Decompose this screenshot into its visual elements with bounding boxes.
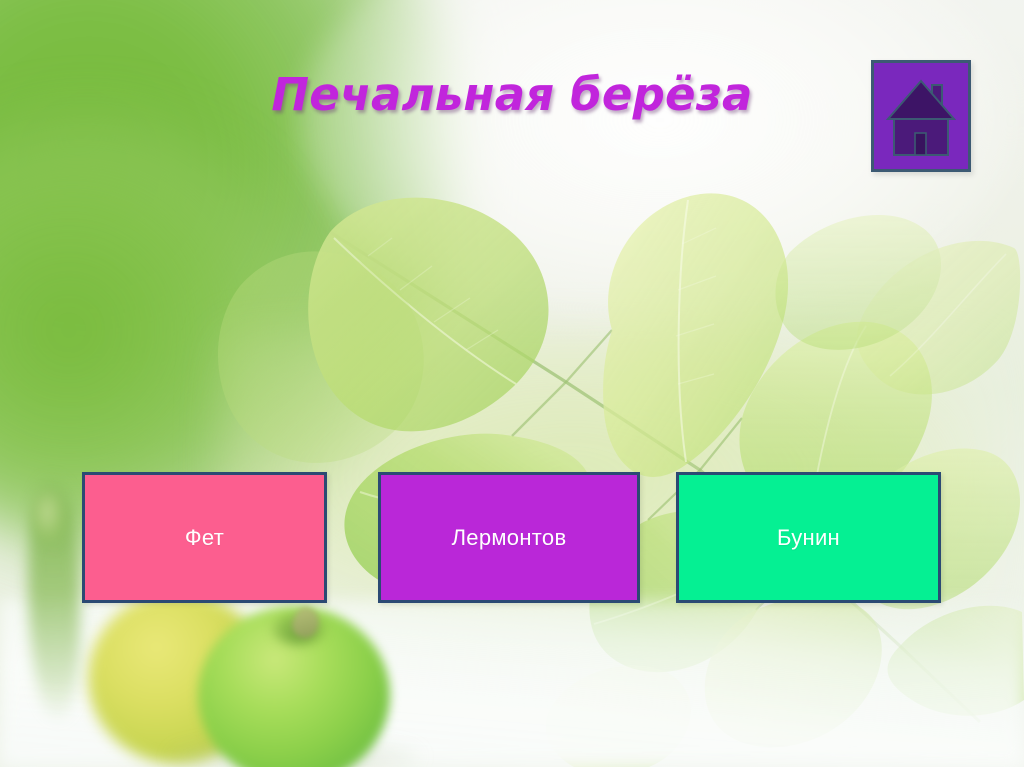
home-icon [874, 63, 968, 169]
answer-options-row: Фет Лермонтов Бунин [0, 472, 1024, 604]
answer-button-lermontov[interactable]: Лермонтов [378, 472, 640, 603]
answer-label: Лермонтов [452, 527, 567, 549]
home-button[interactable] [871, 60, 971, 172]
answer-label: Бунин [777, 527, 840, 549]
slide-canvas: Печальная берёза Фет Лермонтов Бунин [0, 0, 1024, 767]
answer-button-fet[interactable]: Фет [82, 472, 327, 603]
answer-button-bunin[interactable]: Бунин [676, 472, 941, 603]
answer-label: Фет [185, 527, 224, 549]
